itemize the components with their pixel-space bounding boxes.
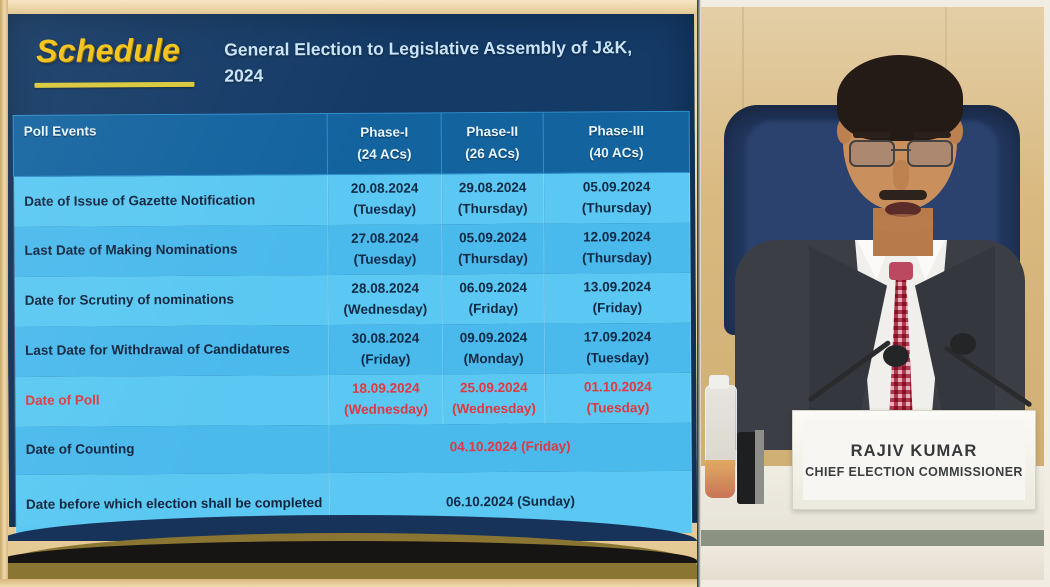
title-underline — [34, 82, 194, 88]
phase-1-name: Phase-I — [360, 124, 408, 139]
moustache — [879, 190, 927, 200]
phase-1-acs: (24 ACs) — [357, 147, 411, 162]
nameplate-name: RAJIV KUMAR — [851, 442, 978, 461]
table-row: Date of Issue of Gazette Notification 20… — [14, 172, 690, 226]
phase-2-acs: (26 ACs) — [465, 146, 519, 161]
row-cell-phase-2: 06.09.2024 (Friday) — [442, 273, 544, 324]
photo-frame-top — [697, 0, 1050, 7]
cell-day: (Tuesday) — [328, 199, 441, 220]
header-row: Poll Events Phase-I (24 ACs) Phase-II (2… — [13, 111, 689, 176]
cell-date: 29.08.2024 — [459, 180, 527, 195]
slide-subtitle: General Election to Legislative Assembly… — [224, 34, 674, 89]
column-header-poll-events: Poll Events — [13, 114, 327, 177]
cell-day: (Thursday) — [544, 247, 689, 268]
slide-title: Schedule — [36, 32, 180, 70]
column-header-phase-1: Phase-I (24 ACs) — [327, 113, 441, 175]
row-label: Date for Scrutiny of nominations — [14, 275, 328, 327]
table-row-date-of-poll: Date of Poll 18.09.2024 (Wednesday) 25.0… — [15, 372, 691, 426]
row-label: Date of Poll — [15, 375, 329, 427]
cell-date: 01.10.2024 — [584, 379, 652, 394]
phase-3-name: Phase-III — [588, 123, 644, 138]
election-schedule-slide: Schedule General Election to Legislative… — [6, 7, 697, 527]
nameplate-text-area: RAJIV KUMAR CHIEF ELECTION COMMISSIONER — [803, 420, 1025, 500]
desk-edge — [697, 530, 1050, 546]
necktie-knot — [889, 262, 913, 280]
row-cell-phase-3: 17.09.2024 (Tuesday) — [544, 322, 690, 373]
cell-day: (Thursday) — [442, 198, 543, 219]
cell-day: (Tuesday) — [545, 397, 690, 418]
table-body: Date of Issue of Gazette Notification 20… — [14, 172, 692, 536]
cell-date: 06.09.2024 — [459, 280, 527, 295]
desk-front-panel — [697, 546, 1050, 580]
cell-date: 09.09.2024 — [460, 330, 528, 345]
screen-bezel-top — [0, 0, 697, 14]
cell-day: (Tuesday) — [545, 347, 690, 368]
cell-date: 05.09.2024 — [459, 230, 527, 245]
photo-frame-bottom — [697, 580, 1050, 587]
row-cell-phase-1: 27.08.2024 (Tuesday) — [328, 224, 442, 275]
lens-left — [849, 140, 895, 167]
desk-nameplate: RAJIV KUMAR CHIEF ELECTION COMMISSIONER — [792, 410, 1036, 510]
press-conference-photo: RAJIV KUMAR CHIEF ELECTION COMMISSIONER — [697, 0, 1050, 587]
screenshot-stage: Schedule General Election to Legislative… — [0, 0, 1050, 587]
cell-date: 27.08.2024 — [351, 230, 419, 245]
row-cell-phase-1: 18.09.2024 (Wednesday) — [329, 374, 443, 425]
row-label: Last Date for Withdrawal of Candidatures — [14, 325, 328, 377]
eyebrow-left — [853, 132, 891, 138]
row-cell-phase-1: 20.08.2024 (Tuesday) — [328, 174, 442, 225]
cell-day: (Tuesday) — [328, 249, 441, 270]
desk-equipment-stand — [755, 430, 764, 504]
water-bottle-cap — [709, 375, 729, 389]
cell-date: 28.08.2024 — [351, 280, 419, 295]
table-row: Date for Scrutiny of nominations 28.08.2… — [14, 272, 690, 326]
row-cell-phase-1: 28.08.2024 (Wednesday) — [328, 274, 442, 325]
table-row: Last Date for Withdrawal of Candidatures… — [14, 322, 690, 376]
presentation-screen-panel: Schedule General Election to Legislative… — [0, 0, 697, 587]
microphone-head-left — [883, 345, 909, 367]
cell-day: (Thursday) — [544, 198, 689, 219]
cell-date: 30.08.2024 — [352, 330, 420, 345]
phase-3-acs: (40 ACs) — [589, 145, 643, 160]
row-cell-phase-2: 09.09.2024 (Monday) — [442, 323, 544, 374]
water-bottle-label — [705, 460, 735, 498]
table-row-date-of-counting: Date of Counting 04.10.2024 (Friday) — [15, 422, 691, 474]
hair — [837, 55, 963, 141]
cell-date: 17.09.2024 — [584, 329, 652, 344]
row-cell-phase-3: 05.09.2024 (Thursday) — [544, 172, 690, 223]
cell-day: (Friday) — [545, 297, 690, 318]
row-label: Date of Counting — [15, 425, 329, 475]
cell-date: 18.09.2024 — [352, 380, 420, 395]
screen-bezel-left — [0, 0, 8, 587]
row-cell-phase-3: 01.10.2024 (Tuesday) — [545, 372, 691, 423]
phase-2-name: Phase-II — [466, 124, 518, 139]
nose — [893, 160, 909, 190]
cell-day: (Friday) — [329, 349, 442, 370]
cell-day: (Thursday) — [442, 248, 543, 269]
cell-date: 20.08.2024 — [351, 181, 419, 196]
row-cell-phase-2: 25.09.2024 (Wednesday) — [443, 373, 545, 424]
row-cell-phase-2: 05.09.2024 (Thursday) — [442, 223, 544, 274]
cell-date: 13.09.2024 — [583, 279, 651, 294]
microphone-head-right — [950, 333, 976, 355]
eyebrow-right — [913, 132, 951, 138]
cell-date: 12.09.2024 — [583, 229, 651, 244]
column-header-phase-2: Phase-II (26 ACs) — [441, 112, 543, 174]
row-label: Date of Issue of Gazette Notification — [14, 175, 328, 227]
row-cell-phase-1: 30.08.2024 (Friday) — [328, 324, 442, 375]
screen-bezel-bottom — [0, 579, 697, 587]
row-cell-phase-2: 29.08.2024 (Thursday) — [442, 173, 544, 224]
schedule-table: Poll Events Phase-I (24 ACs) Phase-II (2… — [13, 111, 693, 537]
chin — [873, 214, 933, 232]
cell-day: (Friday) — [443, 298, 544, 319]
row-cell-merged: 04.10.2024 (Friday) — [329, 422, 691, 472]
column-header-phase-3: Phase-III (40 ACs) — [543, 111, 689, 173]
cell-day: (Wednesday) — [329, 299, 442, 320]
row-cell-phase-3: 12.09.2024 (Thursday) — [544, 222, 690, 273]
cell-date: 25.09.2024 — [460, 380, 528, 395]
table-header: Poll Events Phase-I (24 ACs) Phase-II (2… — [13, 111, 689, 176]
table-row: Last Date of Making Nominations 27.08.20… — [14, 222, 690, 276]
cell-date: 05.09.2024 — [583, 179, 651, 194]
row-label: Last Date of Making Nominations — [14, 225, 328, 277]
cell-day: (Wednesday) — [329, 399, 442, 420]
slide-header: Schedule General Election to Legislative… — [6, 7, 695, 115]
panel-divider — [697, 0, 701, 587]
lens-right — [907, 140, 953, 167]
cell-day: (Monday) — [443, 348, 544, 369]
row-cell-phase-3: 13.09.2024 (Friday) — [544, 272, 690, 323]
photo-frame-right — [1044, 0, 1050, 587]
cell-day: (Wednesday) — [443, 398, 544, 419]
nameplate-role: CHIEF ELECTION COMMISSIONER — [805, 465, 1023, 479]
